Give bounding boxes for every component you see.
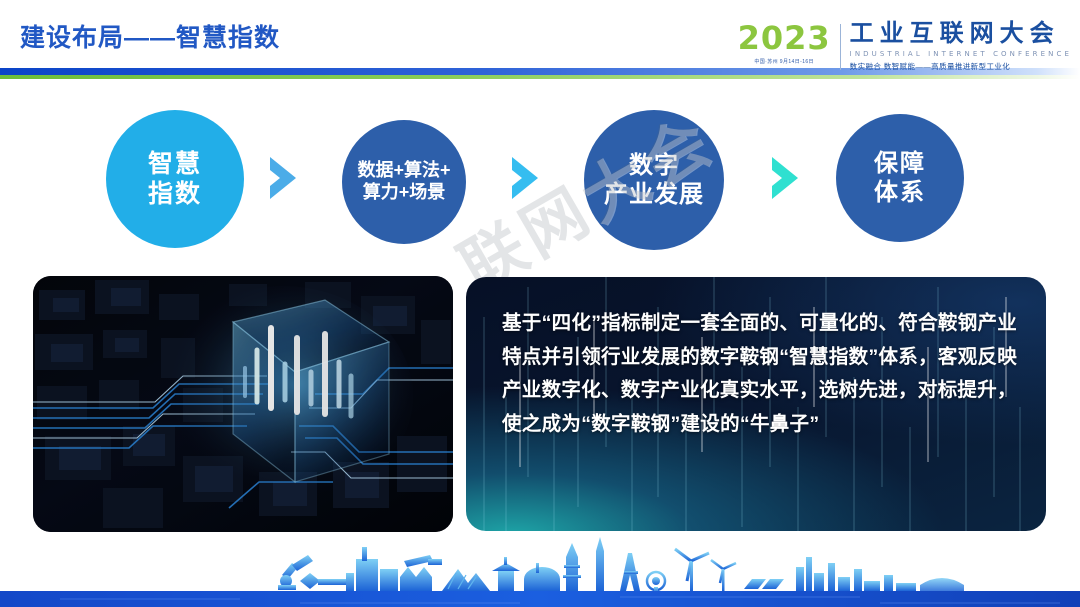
node-line-1: 数字: [629, 151, 679, 180]
flow-node-shuju-suanfa: 数据+算法+ 算力+场景: [342, 120, 466, 244]
logo-date: 中国·苏州 9月14日-16日: [754, 58, 814, 65]
page-title: 建设布局——智慧指数: [20, 18, 280, 54]
bottom-skyline: [0, 537, 1080, 607]
flow-node-baozhang-tixi: 保障 体系: [836, 114, 964, 242]
node-line-1: 保障: [874, 149, 926, 178]
node-line-1: 数据+算法+: [357, 160, 450, 182]
description-panel: 基于“四化”指标制定一套全面的、可量化的、符合鞍钢产业特点并引领行业发展的数字鞍…: [466, 277, 1046, 531]
node-line-2: 体系: [874, 178, 926, 207]
flow-node-zhihui-zhishu: 智慧 指数: [106, 110, 244, 248]
logo-name-block: 工业互联网大会 INDUSTRIAL INTERNET CONFERENCE 数…: [841, 22, 1072, 72]
conference-logo: 2023 中国·苏州 9月14日-16日 工业互联网大会 INDUSTRIAL …: [738, 22, 1072, 74]
node-line-1: 智慧: [148, 149, 202, 180]
chevron-right-icon-2: [508, 154, 544, 202]
node-line-2: 指数: [148, 179, 202, 210]
logo-name-en: INDUSTRIAL INTERNET CONFERENCE: [850, 50, 1072, 58]
logo-year-block: 2023 中国·苏州 9月14日-16日: [738, 22, 840, 65]
chevron-right-icon-1: [266, 154, 302, 202]
chevron-right-icon-3: [768, 154, 804, 202]
node-line-2: 算力+场景: [363, 182, 446, 204]
logo-name-cn: 工业互联网大会: [850, 22, 1072, 46]
tech-cube-photo: [33, 276, 453, 532]
node-line-2: 产业发展: [604, 180, 704, 209]
title-divider-green: [0, 75, 1080, 79]
panel-paragraph: 基于“四化”指标制定一套全面的、可量化的、符合鞍钢产业特点并引领行业发展的数字鞍…: [502, 307, 1022, 441]
logo-slogan: 数实融合 数智赋能——高质量推进新型工业化: [850, 61, 1072, 72]
flow-diagram: 智慧 指数 数据+算法+ 算力+场景 数字 产业发展 保障 体系: [0, 104, 1080, 254]
logo-year: 2023: [738, 22, 831, 54]
flow-node-shuzi-chanye: 数字 产业发展: [584, 110, 724, 250]
slide-root: 建设布局——智慧指数 2023 中国·苏州 9月14日-16日 工业互联网大会 …: [0, 0, 1080, 607]
